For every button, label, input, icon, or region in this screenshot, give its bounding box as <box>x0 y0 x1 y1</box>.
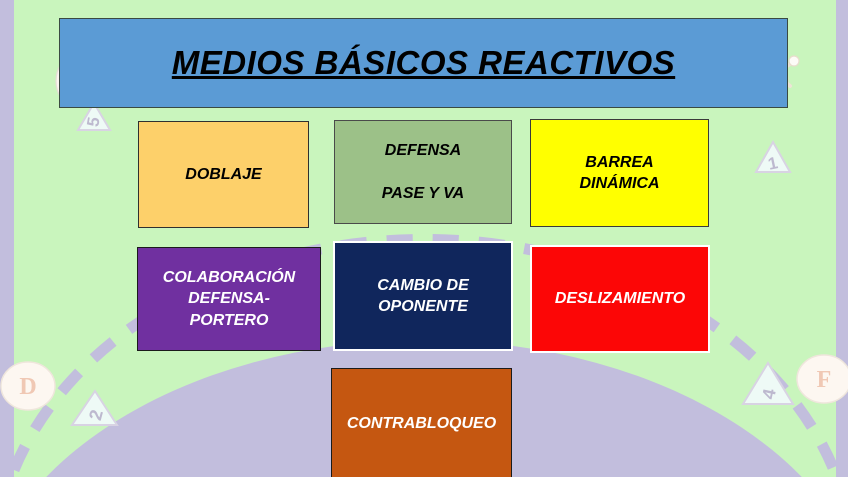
concept-box-doblaje-label: DOBLAJE <box>147 164 300 185</box>
colaboracion-line-1: COLABORACIÓN <box>163 269 295 286</box>
concept-box-contrabloqueo[interactable]: CONTRABLOQUEO <box>331 368 512 477</box>
barrea-line-2: DINÁMICA <box>580 175 660 192</box>
court-circle-d: D <box>1 362 55 410</box>
barrea-line-1: BARREA <box>585 154 653 171</box>
concept-box-deslizamiento[interactable]: DESLIZAMIENTO <box>530 245 710 353</box>
concept-box-colaboracion-defensa-portero-label: COLABORACIÓN DEFENSA- PORTERO <box>146 267 312 330</box>
colaboracion-line-2: DEFENSA- <box>188 290 270 307</box>
svg-text:F: F <box>817 367 832 393</box>
concept-box-deslizamiento-label: DESLIZAMIENTO <box>540 288 700 309</box>
defensa-line-2: PASE Y VA <box>382 185 464 202</box>
concept-box-defensa-pase-y-va-label: DEFENSA PASE Y VA <box>343 140 503 203</box>
concept-box-barrea-dinamica[interactable]: BARREA DINÁMICA <box>530 119 709 227</box>
concept-box-cambio-de-oponente[interactable]: CAMBIO DE OPONENTE <box>333 241 513 351</box>
concept-box-cambio-de-oponente-label: CAMBIO DE OPONENTE <box>343 275 503 317</box>
court-sideline-right <box>836 0 848 477</box>
court-circle-f: F <box>797 355 848 403</box>
concept-box-defensa-pase-y-va[interactable]: DEFENSA PASE Y VA <box>334 120 512 224</box>
svg-text:D: D <box>19 374 36 400</box>
colaboracion-line-3: PORTERO <box>190 312 269 329</box>
title-banner: MEDIOS BÁSICOS REACTIVOS <box>59 18 788 108</box>
concept-box-contrabloqueo-label: CONTRABLOQUEO <box>340 413 503 434</box>
slide-canvas: 5 1 2 4 D F MEDIOS BÁSICOS REACTIVOS DOB… <box>0 0 848 477</box>
concept-box-barrea-dinamica-label: BARREA DINÁMICA <box>539 152 700 194</box>
cambio-line-2: OPONENTE <box>378 298 468 315</box>
concept-box-colaboracion-defensa-portero[interactable]: COLABORACIÓN DEFENSA- PORTERO <box>137 247 321 351</box>
page-title: MEDIOS BÁSICOS REACTIVOS <box>172 44 675 82</box>
cambio-line-1: CAMBIO DE <box>377 277 469 294</box>
concept-box-doblaje[interactable]: DOBLAJE <box>138 121 309 228</box>
defensa-line-1: DEFENSA <box>385 142 461 159</box>
